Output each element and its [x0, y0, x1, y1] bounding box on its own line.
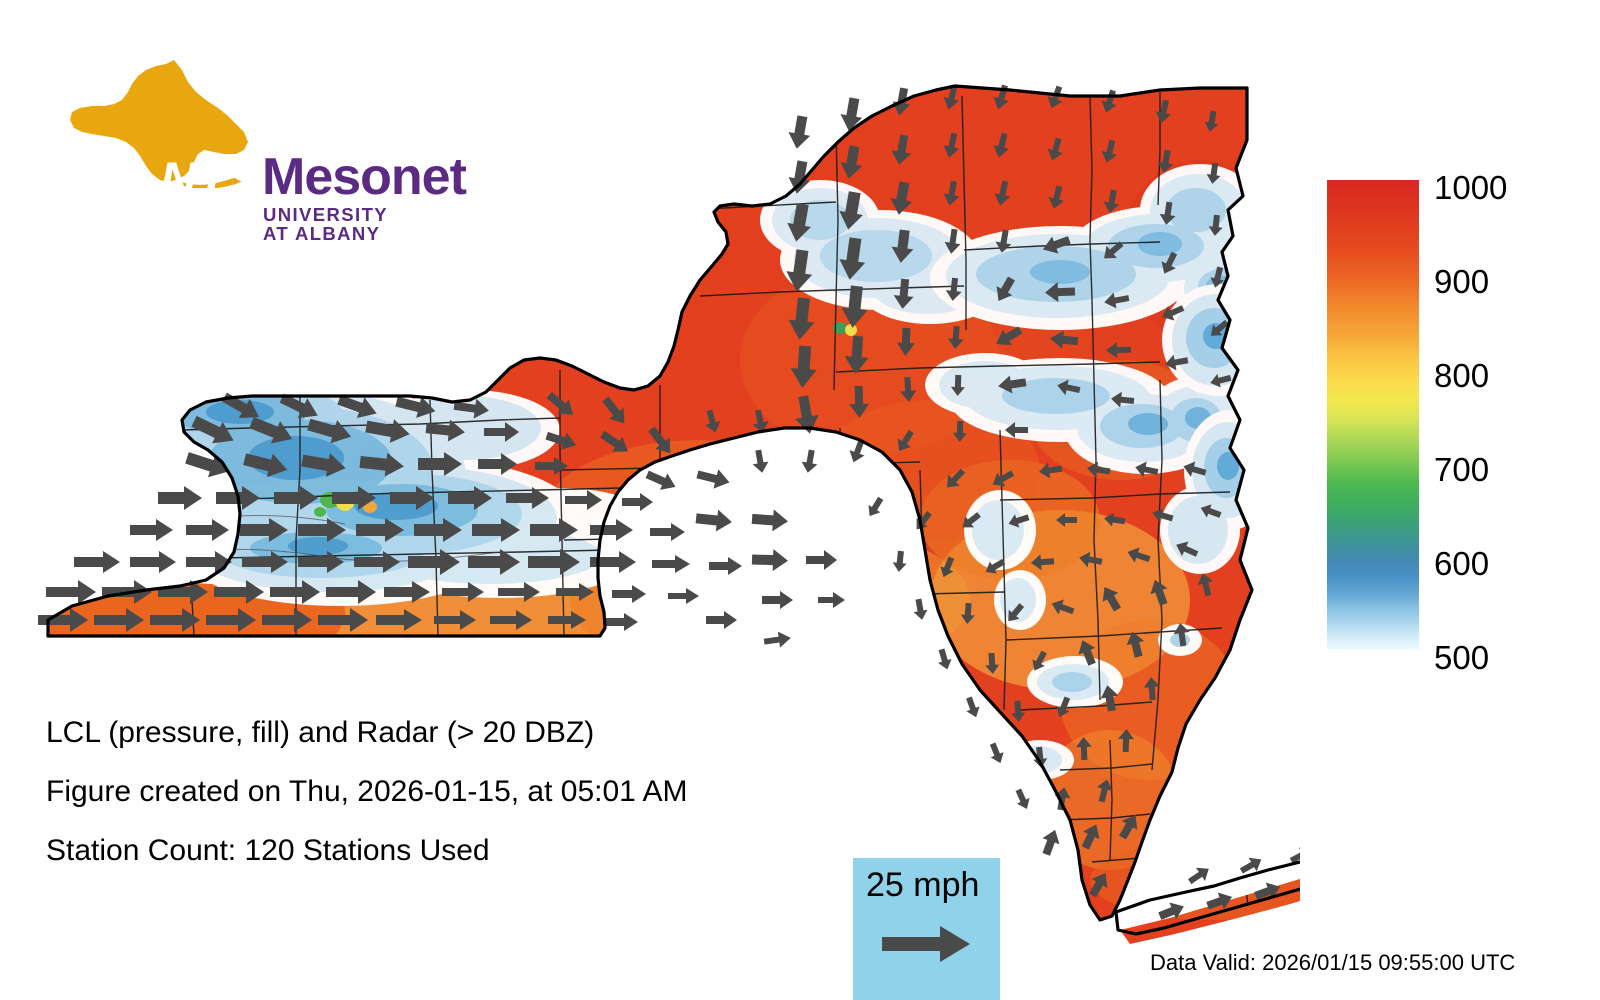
- caption-title: LCL (pressure, fill) and Radar (> 20 DBZ…: [46, 718, 846, 748]
- colorbar-tick-700: 700: [1434, 453, 1489, 486]
- colorbar-tick-600: 600: [1434, 547, 1489, 580]
- colorbar-tick-800: 800: [1434, 359, 1489, 392]
- colorbar-tick-1000: 1000: [1434, 171, 1507, 204]
- data-valid-timestamp: Data Valid: 2026/01/15 09:55:00 UTC: [1150, 952, 1515, 974]
- nys-mesonet-logo: NYS Mesonet UNIVERSITY AT ALBANY: [48, 58, 408, 188]
- wind-key-label: 25 mph: [866, 868, 979, 902]
- wind-speed-key: 25 mph: [853, 858, 1000, 1000]
- logo-mesonet-text: Mesonet: [262, 151, 466, 203]
- colorbar-tick-900: 900: [1434, 265, 1489, 298]
- right-arrow-icon: [882, 924, 972, 964]
- caption-station-count: Station Count: 120 Stations Used: [46, 836, 846, 866]
- colorbar-tick-labels: 1000 900 800 700 600 500: [1434, 180, 1584, 650]
- colorbar-gradient: [1327, 180, 1419, 650]
- figure-caption: LCL (pressure, fill) and Radar (> 20 DBZ…: [46, 718, 846, 895]
- caption-created: Figure created on Thu, 2026-01-15, at 05…: [46, 777, 846, 807]
- colorbar-tick-500: 500: [1434, 641, 1489, 674]
- logo-university-text: UNIVERSITY AT ALBANY: [263, 206, 408, 243]
- logo-nys-text: NYS: [160, 155, 260, 205]
- lcl-pressure-colorbar: [1327, 180, 1419, 650]
